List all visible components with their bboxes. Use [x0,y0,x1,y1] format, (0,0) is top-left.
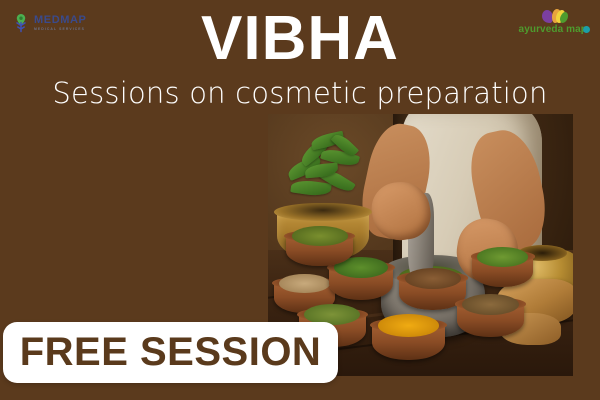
free-session-badge[interactable]: FREE SESSION [3,322,338,383]
clay-bowl [472,255,533,286]
clay-bowl [329,266,393,300]
poster-canvas: MEDMAP MEDICAL SERVICES ayurveda map VIB… [0,0,600,400]
free-session-label: FREE SESSION [20,330,322,375]
page-title: VIBHA [0,8,600,70]
page-subtitle: Sessions on cosmetic preparation [0,78,600,110]
clay-bowl [286,235,353,266]
clay-bowl [372,324,445,361]
clay-bowl [457,303,524,337]
curry-leaves [283,132,365,216]
